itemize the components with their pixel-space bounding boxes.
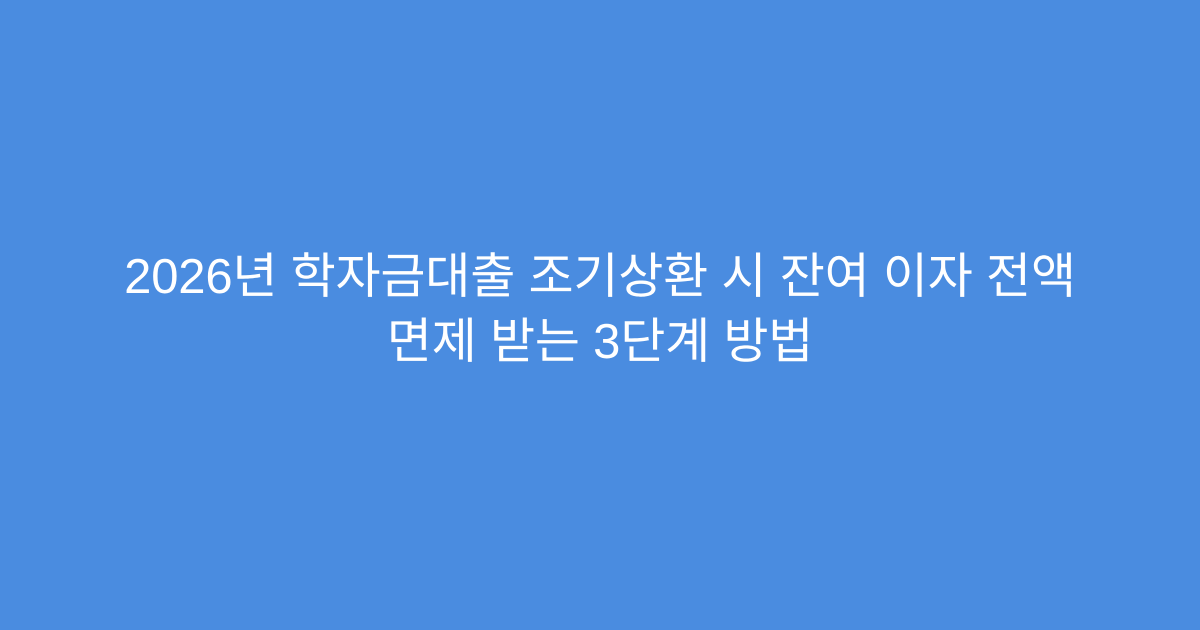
og-card-canvas: 2026년 학자금대출 조기상환 시 잔여 이자 전액 면제 받는 3단계 방법 [0, 0, 1200, 630]
page-title: 2026년 학자금대출 조기상환 시 잔여 이자 전액 면제 받는 3단계 방법 [95, 245, 1105, 375]
title-block: 2026년 학자금대출 조기상환 시 잔여 이자 전액 면제 받는 3단계 방법 [75, 245, 1125, 375]
